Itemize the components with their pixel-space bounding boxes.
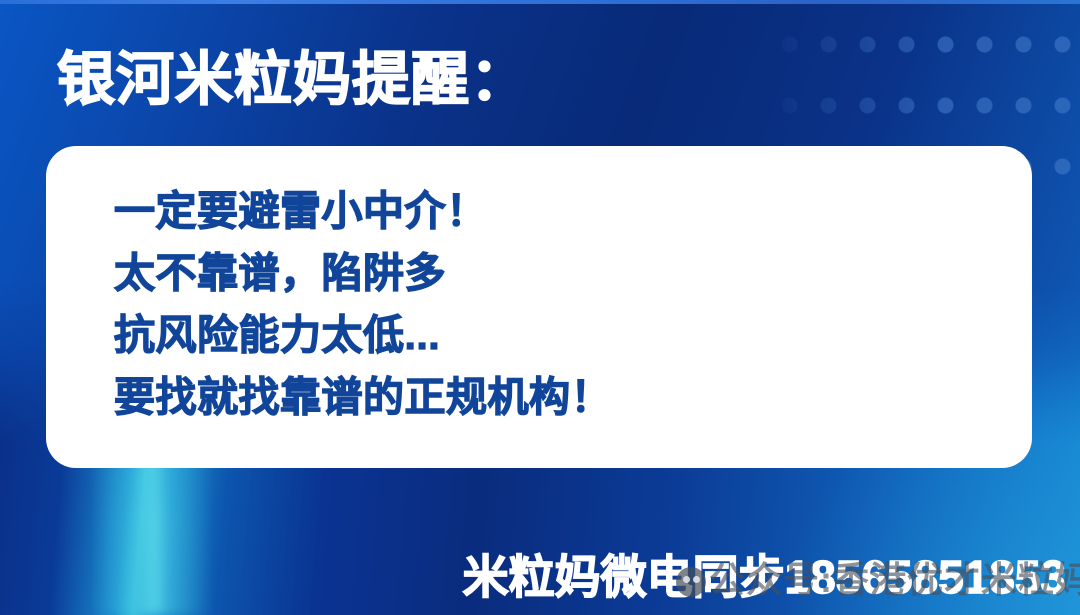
message-line: 太不靠谱，陷阱多	[114, 242, 1002, 304]
promotional-poster: 银河米粒妈提醒： 一定要避雷小中介！ 太不靠谱，陷阱多 抗风险能力太低... 要…	[0, 0, 1080, 615]
message-line: 抗风险能力太低...	[114, 304, 1002, 366]
message-card-body: 一定要避雷小中介！ 太不靠谱，陷阱多 抗风险能力太低... 要找就找靠谱的正规机…	[114, 180, 1002, 428]
message-line: 要找就找靠谱的正规机构！	[114, 366, 1002, 428]
message-card: 一定要避雷小中介！ 太不靠谱，陷阱多 抗风险能力太低... 要找就找靠谱的正规机…	[46, 146, 1032, 468]
contact-info: 米粒妈微电同步18565851853	[0, 541, 1066, 607]
page-title: 银河米粒妈提醒：	[57, 48, 529, 113]
message-line: 一定要避雷小中介！	[114, 180, 1002, 242]
